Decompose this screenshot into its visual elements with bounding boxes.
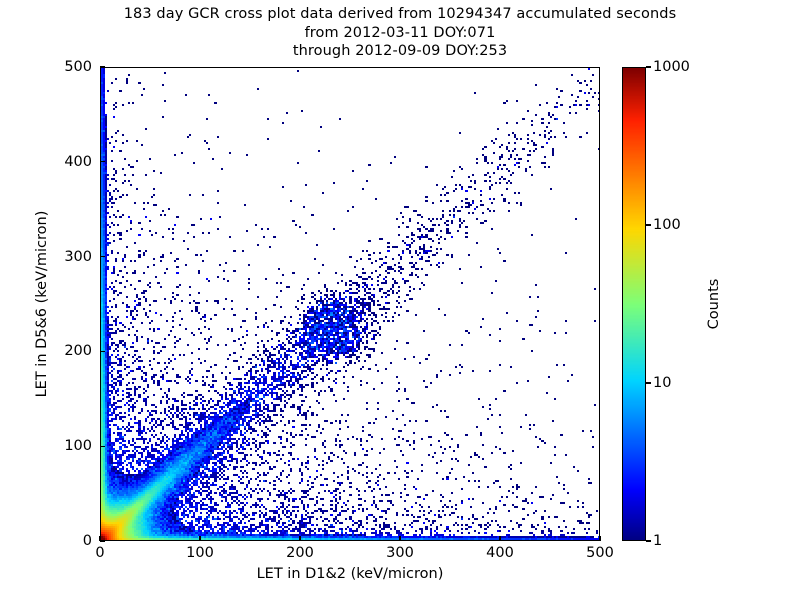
- x-ticklabel-400: 400: [486, 545, 514, 561]
- colorbar-ticklabel-1: 1: [653, 533, 662, 549]
- colorbar-tick-100: [646, 224, 651, 225]
- figure-canvas: 183 day GCR cross plot data derived from…: [0, 0, 800, 600]
- x-tick-200: [299, 536, 300, 541]
- colorbar-tick-1: [646, 540, 651, 541]
- x-tick-400: [499, 536, 500, 541]
- y-tick-100: [100, 446, 105, 447]
- plot-title: 183 day GCR cross plot data derived from…: [0, 5, 800, 61]
- colorbar-tick-10: [646, 382, 651, 383]
- y-axis-title-text: LET in D5&6 (keV/micron): [34, 174, 50, 434]
- x-tick-500: [599, 536, 600, 541]
- x-ticklabel-0: 0: [95, 545, 104, 561]
- colorbar-ticklabel-100: 100: [653, 217, 681, 233]
- y-ticklabel-0: 0: [44, 533, 92, 549]
- y-ticklabel-100: 100: [44, 438, 92, 454]
- y-tick-300: [100, 256, 105, 257]
- colorbar-title-text: Counts: [706, 264, 722, 344]
- x-ticklabel-500: 500: [586, 545, 614, 561]
- plot-axes: [100, 67, 600, 541]
- x-tick-300: [399, 536, 400, 541]
- y-tick-400: [100, 161, 105, 162]
- scatter-heatmap: [101, 68, 600, 541]
- y-ticklabel-500: 500: [44, 59, 92, 75]
- x-ticklabel-100: 100: [186, 545, 214, 561]
- plot-title-line-2: from 2012-03-11 DOY:071: [0, 24, 800, 43]
- y-tick-500: [100, 66, 105, 67]
- x-tick-100: [199, 536, 200, 541]
- x-ticklabel-300: 300: [386, 545, 414, 561]
- y-tick-0: [100, 540, 105, 541]
- y-ticklabel-300: 300: [44, 249, 92, 265]
- y-tick-200: [100, 351, 105, 352]
- plot-title-line-1: 183 day GCR cross plot data derived from…: [0, 5, 800, 24]
- plot-title-line-3: through 2012-09-09 DOY:253: [0, 42, 800, 61]
- x-axis-title: LET in D1&2 (keV/micron): [100, 566, 600, 582]
- colorbar-gradient: [623, 68, 646, 541]
- x-ticklabel-200: 200: [286, 545, 314, 561]
- colorbar: [622, 67, 646, 541]
- y-ticklabel-200: 200: [44, 343, 92, 359]
- colorbar-ticklabel-10: 10: [653, 375, 671, 391]
- colorbar-tick-1000: [646, 66, 651, 67]
- y-ticklabel-400: 400: [44, 154, 92, 170]
- colorbar-ticklabel-1000: 1000: [653, 59, 690, 75]
